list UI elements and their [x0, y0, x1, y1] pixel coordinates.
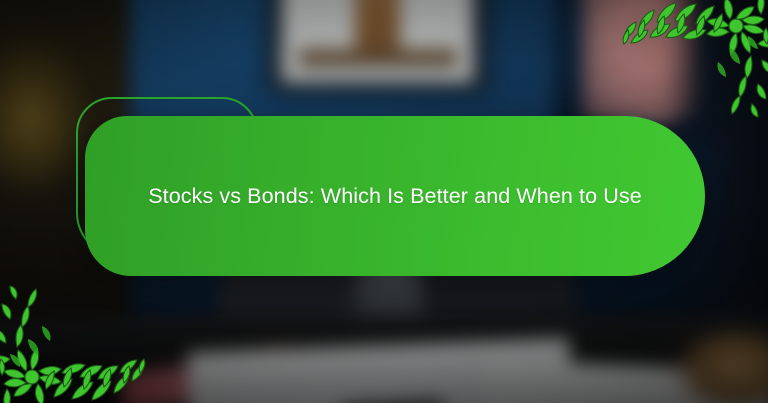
page-title: Stocks vs Bonds: Which Is Better and Whe… — [148, 181, 642, 212]
featured-image-card: Stocks vs Bonds: Which Is Better and Whe… — [0, 0, 768, 403]
title-banner-group: Stocks vs Bonds: Which Is Better and Whe… — [0, 0, 768, 403]
title-banner: Stocks vs Bonds: Which Is Better and Whe… — [85, 116, 705, 276]
